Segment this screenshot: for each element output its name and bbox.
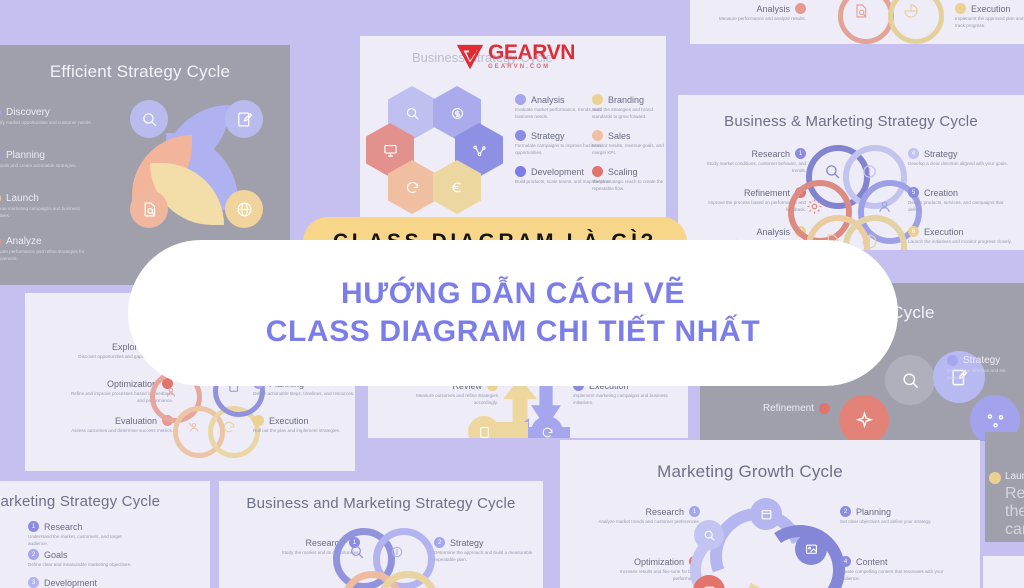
list-item: 4 Strategy Develop a clear direction ali… (908, 148, 1008, 168)
item-desc: Launch the initiatives and monitor progr… (908, 239, 1012, 246)
step-badge: 2 (840, 506, 851, 517)
item-desc: Define clear and measurable marketing ob… (28, 562, 131, 569)
item-title: Optimization (634, 557, 684, 567)
list-item: 2 Planning Set goals and create actionab… (0, 150, 77, 170)
list-item: 4 Content Create compelling content that… (840, 556, 944, 583)
bullet-dot-launch (989, 472, 1001, 484)
item-desc: Create compelling content that resonates… (840, 569, 944, 583)
ring-pie-chart (888, 0, 944, 44)
item-title: Strategy (531, 131, 565, 141)
list-item: Execution Roll out the plan and implemen… (253, 415, 340, 435)
item-title: Development (531, 167, 584, 177)
bullet-dot (592, 166, 603, 177)
bullet-dot (515, 130, 526, 141)
item-desc: Build the strategies and brand standards… (592, 107, 666, 121)
item-desc: Determine the approach and build a measu… (434, 550, 538, 564)
list-item: Execution Implement the approved plan an… (955, 3, 1024, 30)
list-item: 1 Research Understand the market, custom… (28, 521, 132, 548)
item-desc: Study market conditions, customer behavi… (702, 161, 806, 175)
item-desc: Execute marketing campaigns and business… (0, 206, 94, 220)
list-item: 2 Goals Define clear and measurable mark… (28, 549, 131, 569)
gearvn-watermark: Business Strategy Cycle GEARVN GEARVN.CO… (455, 38, 585, 74)
gearvn-logo-mark (455, 42, 485, 70)
slide-title: Efficient Strategy Cycle (0, 62, 290, 82)
item-title: Analysis (756, 4, 790, 14)
list-item: 3 Development Create workflows, strategi… (28, 577, 112, 588)
item-title: Scaling (608, 167, 638, 177)
item-desc: Set clear objectives and define your str… (840, 519, 931, 526)
item-title: Analysis (531, 95, 565, 105)
item-title: Launch (6, 193, 39, 204)
item-title: Evaluation (115, 416, 157, 426)
list-item: 5 Creation Design products, services, an… (908, 187, 1012, 214)
item-desc: Implement marketing campaigns and busine… (573, 393, 677, 407)
list-item: Analysis Measure performance and analyze… (690, 3, 806, 23)
item-desc: Evaluate performance and refine strategi… (0, 249, 94, 263)
slide-marketing-strategy-cycle-left: Marketing Strategy Cycle 1 Research Unde… (0, 481, 210, 588)
bullet-dot (592, 130, 603, 141)
headline-line-1: HƯỚNG DẪN CÁCH VẼ (341, 275, 685, 313)
item-desc: Increase results and fine-tune for bette… (596, 569, 700, 583)
list-item: Scaling Widen strategic reach to create … (592, 166, 666, 193)
item-title: Sales (608, 131, 631, 141)
list-item: 1 Discovery Identify market opportunitie… (0, 107, 92, 127)
list-item: 1 Research Analyze market trends and cus… (590, 506, 700, 526)
icon-circle-document-edit (225, 100, 263, 138)
bullet-dot (515, 94, 526, 105)
list-item: Sales Monitor results, revenue goals, an… (592, 130, 666, 157)
item-title: Execution (971, 4, 1011, 14)
list-item: 1 Research Study market conditions, cust… (696, 148, 806, 175)
item-desc: Analyze market trends and customer prefe… (596, 519, 700, 526)
item-title: Analyze (6, 236, 42, 247)
bullet-dot (253, 415, 264, 426)
step-badge: 3 (0, 193, 1, 204)
bullet-dot (592, 94, 603, 105)
step-badge: 6 (908, 226, 919, 237)
item-desc: Monitor results, revenue goals, and marg… (592, 143, 666, 157)
step-badge: 1 (28, 521, 39, 532)
item-title: Optimization (107, 379, 157, 389)
list-item: 3 Launch Execute marketing campaigns and… (0, 193, 94, 220)
item-title: Strategy (450, 538, 484, 548)
list-item: Strategy Define your direction and set p… (947, 355, 1024, 382)
list-item: 3 Optimization Increase results and fine… (590, 556, 700, 583)
step-badge: 4 (0, 236, 1, 247)
list-item: 6 Execution Launch the initiatives and m… (908, 226, 1012, 246)
list-item: 2 Planning Set clear objectives and defi… (840, 506, 931, 526)
icon-circle-search (130, 100, 168, 138)
item-desc: Assess outcomes and determine success me… (69, 428, 173, 435)
icon-circle-image (795, 533, 827, 565)
item-desc: Roll out the plan and implement strategi… (253, 428, 340, 435)
icon-circle-document (468, 416, 500, 438)
item-desc: Measure outcomes and refine strategies a… (394, 393, 498, 407)
step-badge: 1 (0, 107, 1, 118)
ring-document-search (838, 0, 894, 44)
item-title: Strategy (963, 355, 1000, 366)
step-badge: 1 (689, 506, 700, 517)
slide-title: Marketing Growth Cycle (560, 462, 980, 482)
item-title: Launch (1005, 471, 1024, 482)
item-title: Refinement (744, 188, 790, 198)
icon-circle-globe (225, 190, 263, 228)
list-item: Branding Build the strategies and brand … (592, 94, 666, 121)
headline-card: HƯỚNG DẪN CÁCH VẼ CLASS DIAGRAM CHI TIẾT… (128, 240, 898, 386)
step-badge: 4 (908, 148, 919, 159)
slide-business-marketing-strategy-cycle: Business & Marketing Strategy Cycle 1 Re… (678, 95, 1024, 250)
item-desc: Design products, services, and campaigns… (908, 200, 1012, 214)
list-item: 2 Strategy Determine the approach and bu… (434, 537, 538, 564)
item-desc: Understand the market, customers, and ta… (28, 534, 132, 548)
icon-circle-sparkle (839, 395, 889, 441)
icon-circle-refresh (531, 416, 563, 438)
icon-circle-calendar (750, 498, 782, 530)
item-title: Research (645, 507, 684, 517)
step-badge: 2 (434, 537, 445, 548)
slide-bottom-far-right-dark: Launch Release the campaign and start th… (985, 432, 1024, 542)
icon-circle-search (694, 520, 724, 550)
item-title: Development (44, 578, 97, 588)
item-desc: Release the campaign and start the cycle… (1005, 485, 1024, 542)
item-title: Research (751, 149, 790, 159)
bullet-dot (955, 3, 966, 14)
step-badge: 5 (908, 187, 919, 198)
item-title: Goals (44, 550, 68, 560)
bullet-dot (795, 3, 806, 14)
slide-business-and-marketing-strategy-cycle: Business and Marketing Strategy Cycle 1 … (219, 481, 543, 588)
icon-circle-search (885, 355, 935, 405)
slide-title: Business & Marketing Strategy Cycle (678, 113, 1024, 130)
item-title: Analysis (756, 227, 790, 237)
item-title: Refinement (763, 403, 814, 414)
item-desc: Implement the approved plan and track pr… (955, 16, 1024, 30)
item-title: Planning (6, 150, 45, 161)
item-title: Execution (269, 416, 309, 426)
list-item: 4 Analyze Evaluate performance and refin… (0, 236, 94, 263)
slide-title: Business and Marketing Strategy Cycle (219, 495, 543, 512)
item-desc: Set goals and create actionable strategi… (0, 163, 77, 170)
item-title: Creation (924, 188, 958, 198)
item-title: Discovery (6, 107, 50, 118)
bullet-dot (947, 355, 958, 366)
step-badge: 4 (840, 556, 851, 567)
step-badge: 1 (795, 148, 806, 159)
step-badge: 2 (0, 150, 1, 161)
item-title: Research (44, 522, 83, 532)
step-badge: 3 (28, 577, 39, 588)
item-desc: Develop a clear direction aligned with y… (908, 161, 1008, 168)
item-title: Planning (856, 507, 891, 517)
slide-top-right-partial: Analysis Measure performance and analyze… (690, 0, 1024, 44)
item-title: Branding (608, 95, 644, 105)
screenshot-canvas: Efficient Strategy Cycle 1 Discovery Ide… (0, 0, 1024, 588)
bullet-dot (819, 403, 830, 414)
item-title: Strategy (924, 149, 958, 159)
slide-title: Marketing Strategy Cycle (0, 493, 210, 510)
slide-bottom-right-sliver (983, 556, 1024, 588)
icon-circle-document-search (130, 190, 168, 228)
item-desc: Widen strategic reach to create the repe… (592, 179, 666, 193)
bullet-dot (515, 166, 526, 177)
item-desc: Identify market opportunities and custom… (0, 120, 92, 127)
headline-line-2: CLASS DIAGRAM CHI TIẾT NHẤT (266, 313, 761, 351)
item-title: Execution (924, 227, 964, 237)
item-title: Content (856, 557, 888, 567)
item-desc: Define actionable steps, timelines, and … (253, 391, 354, 398)
item-desc: Define your direction and set priorities… (947, 368, 1024, 382)
slide-marketing-growth-cycle: Marketing Growth Cycle 1 Research Analyz… (560, 440, 980, 588)
step-badge: 2 (28, 549, 39, 560)
item-desc: Measure performance and analyze results. (702, 16, 806, 23)
list-item: Evaluation Assess outcomes and determine… (63, 415, 173, 435)
list-item: Refinement (720, 403, 830, 414)
